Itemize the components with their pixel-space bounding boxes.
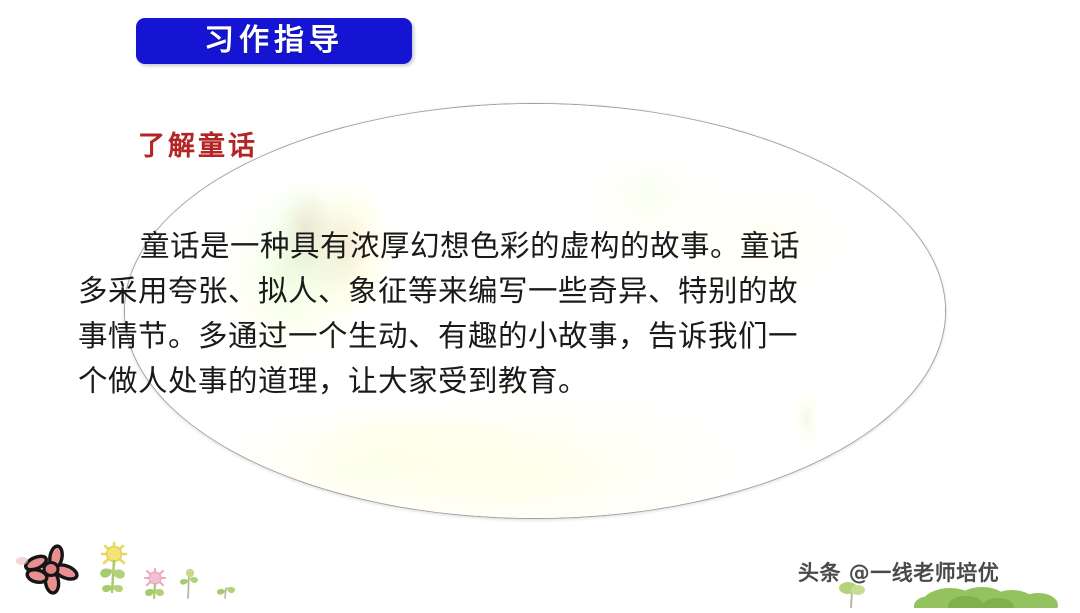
title-banner: 习作指导 — [136, 18, 412, 64]
yellow-daisy-icon — [100, 543, 126, 592]
flower-decoration-strip — [0, 540, 250, 608]
body-line-1: 童话是一种具有浓厚幻想色彩的虚构的故事。童话 — [78, 224, 978, 269]
tiny-green-sprout-icon — [217, 587, 235, 598]
body-line-3: 事情节。多通过一个生动、有趣的小故事，告诉我们一 — [78, 314, 978, 359]
flower-strip-svg — [0, 540, 250, 608]
title-banner-label: 习作指导 — [204, 26, 344, 56]
watermark-label: 头条 @一线老师培优 — [798, 557, 999, 587]
body-paragraph: 童话是一种具有浓厚幻想色彩的虚构的故事。童话 多采用夸张、拟人、象征等来编写一些… — [78, 224, 978, 404]
body-line-4: 个做人处事的道理，让大家受到教育。 — [78, 359, 978, 404]
watermark-group: 头条 @一线老师培优 — [790, 555, 1080, 608]
slide-canvas: 习作指导 了解童话 童话是一种具有浓厚幻想色彩的虚构的故事。童话 多采用夸张、拟… — [0, 0, 1080, 608]
section-subheading: 了解童话 — [138, 124, 258, 163]
pink-outlined-flower-icon — [16, 545, 79, 594]
small-pink-daisy-icon — [145, 569, 165, 598]
body-line-2: 多采用夸张、拟人、象征等来编写一些奇异、特别的故 — [78, 269, 978, 314]
green-sprout-icon — [180, 569, 198, 598]
